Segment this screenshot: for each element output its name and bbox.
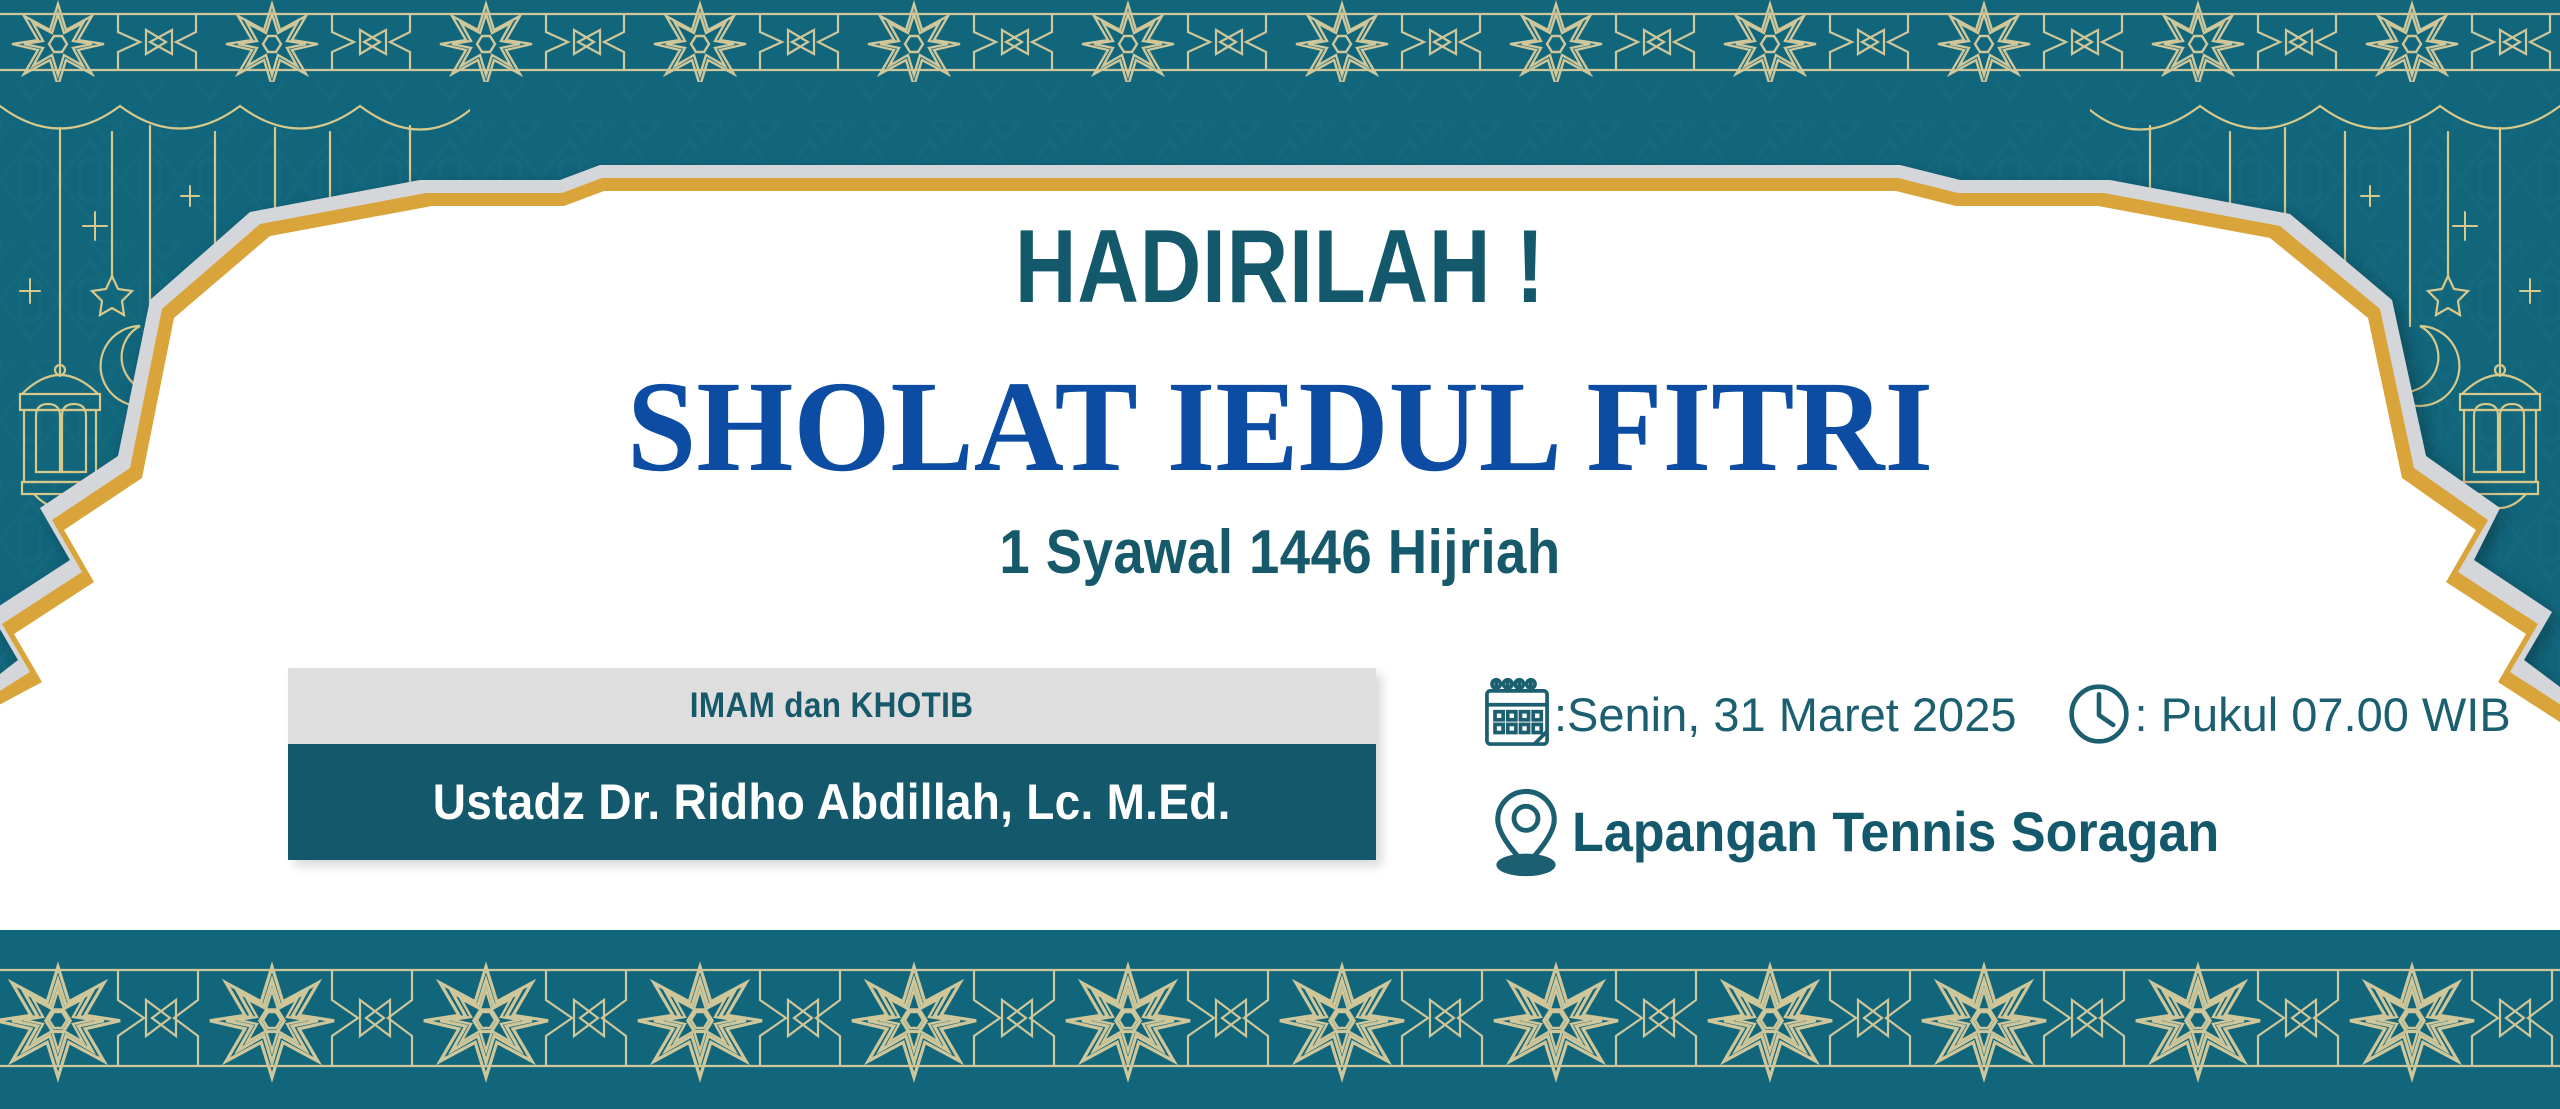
location-row: Lapangan Tennis Soragan — [1480, 776, 2480, 886]
headline-text: HADIRILAH ! — [230, 215, 2329, 319]
date-time-row: :Senin, 31 Maret 2025 : Pukul 07.00 WIB — [1480, 660, 2480, 768]
subtitle-hijri-date: 1 Syawal 1446 Hijriah — [154, 522, 2407, 584]
event-date-text: :Senin, 31 Maret 2025 — [1554, 687, 2016, 742]
event-banner: HADIRILAH ! SHOLAT IEDUL FITRI 1 Syawal … — [0, 0, 2560, 1109]
speaker-name: Ustadz Dr. Ridho Abdillah, Lc. M.Ed. — [433, 773, 1231, 831]
banner-content: HADIRILAH ! SHOLAT IEDUL FITRI 1 Syawal … — [0, 0, 2560, 1109]
imam-khotib-body: Ustadz Dr. Ridho Abdillah, Lc. M.Ed. — [288, 744, 1376, 860]
imam-khotib-label: IMAM dan KHOTIB — [690, 686, 974, 726]
clock-icon — [2064, 679, 2134, 749]
imam-khotib-header: IMAM dan KHOTIB — [288, 668, 1376, 744]
event-time-text: : Pukul 07.00 WIB — [2134, 687, 2510, 742]
event-details: :Senin, 31 Maret 2025 : Pukul 07.00 WIB — [1480, 660, 2480, 886]
map-pin-icon — [1480, 783, 1572, 879]
event-location-text: Lapangan Tennis Soragan — [1572, 799, 2219, 864]
calendar-icon — [1480, 677, 1554, 751]
page-title: SHOLAT IEDUL FITRI — [51, 362, 2509, 492]
imam-khotib-box: IMAM dan KHOTIB Ustadz Dr. Ridho Abdilla… — [288, 668, 1376, 860]
